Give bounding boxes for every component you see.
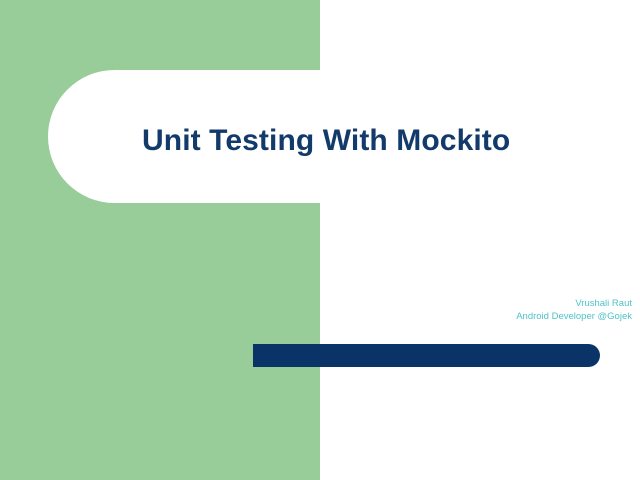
accent-bar-shape	[253, 344, 600, 367]
page-title: Unit Testing With Mockito	[142, 119, 612, 163]
title-slide: Unit Testing With Mockito Vrushali Raut …	[0, 0, 640, 480]
presenter-credits: Vrushali Raut Android Developer @Gojek	[212, 297, 632, 323]
presenter-name: Vrushali Raut	[212, 297, 632, 310]
presenter-role: Android Developer @Gojek	[212, 310, 632, 323]
